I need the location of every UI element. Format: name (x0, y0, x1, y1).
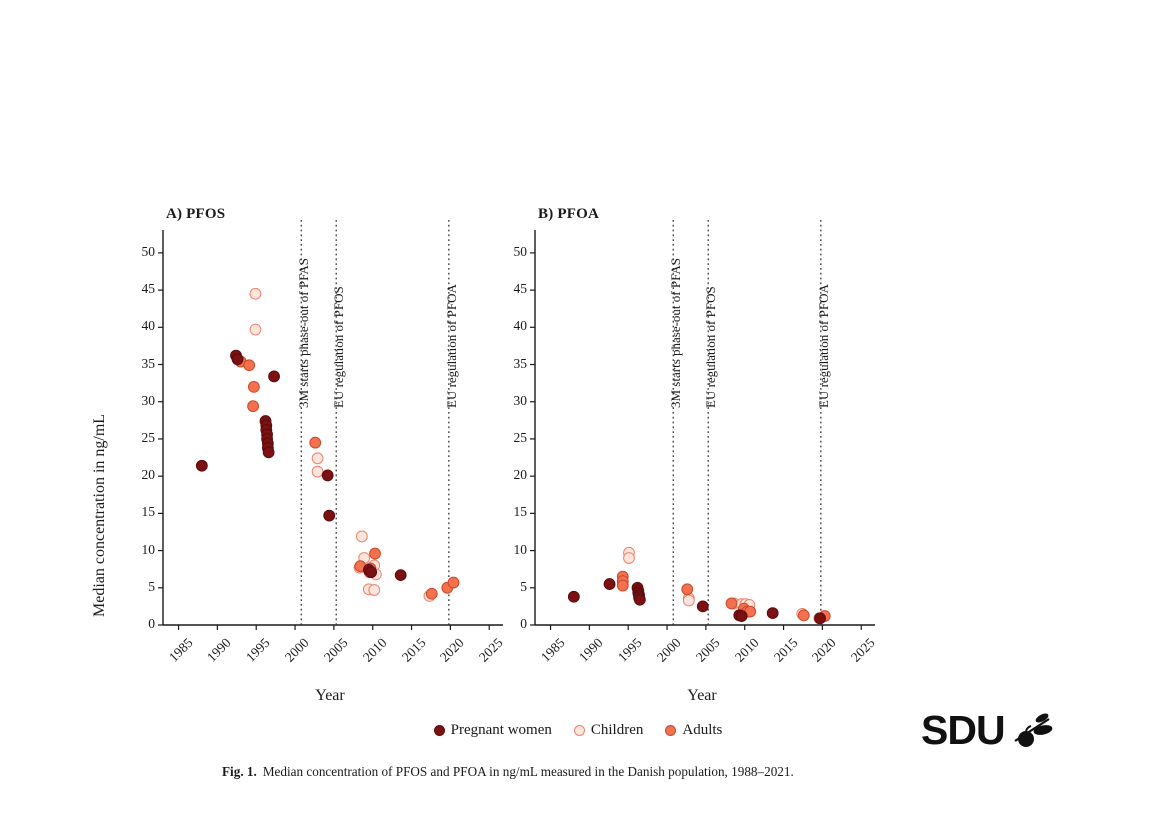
data-point-adults (682, 584, 693, 595)
legend-label: Pregnant women (451, 722, 552, 739)
panel-a-title: A) PFOS (166, 206, 225, 223)
data-point-adults (426, 588, 437, 599)
panel-b-x-axis-label: Year (535, 687, 869, 705)
panel-b-x-tick-label: 2020 (797, 635, 839, 677)
panel-a-annotation-label: EU regulation of PFOS (331, 286, 347, 408)
sdu-apple-branch-logo-icon (1009, 711, 1055, 751)
data-point-pregnant_women (395, 570, 406, 581)
data-point-adults (442, 582, 453, 593)
panel-b-y-tick-label: 45 (483, 281, 527, 297)
sdu-logo: SDU (921, 710, 1055, 751)
panel-a-y-tick-label: 40 (111, 318, 155, 334)
panel-b-x-tick-label: 1995 (603, 635, 645, 677)
data-point-pregnant_women (322, 470, 333, 481)
data-point-pregnant_women (604, 579, 615, 590)
figure-caption: Fig. 1.Median concentration of PFOS and … (222, 764, 794, 780)
data-point-adults (739, 603, 750, 614)
panel-b-x-tick-label: 2010 (720, 635, 762, 677)
data-point-pregnant_women (697, 601, 708, 612)
data-point-pregnant_women (634, 594, 645, 605)
data-point-adults (248, 381, 259, 392)
figure-caption-prefix: Fig. 1. (222, 764, 257, 779)
legend-entry-adults[interactable]: Adults (665, 722, 722, 739)
data-point-pregnant_women (366, 567, 377, 578)
panel-a-x-tick-label: 1990 (192, 635, 234, 677)
data-point-adults (244, 360, 255, 371)
data-point-pregnant_women (261, 420, 272, 431)
data-point-adults (248, 401, 259, 412)
data-point-adults (355, 561, 366, 572)
panel-b-title: B) PFOA (538, 206, 599, 223)
legend-marker-adults-icon (665, 725, 676, 736)
data-point-children (356, 531, 367, 542)
sdu-logo-text: SDU (921, 710, 1005, 751)
panel-a-y-tick-label: 30 (111, 393, 155, 409)
panel-b-x-tick-label: 1990 (564, 635, 606, 677)
data-point-adults (726, 598, 737, 609)
data-point-adults (819, 611, 830, 622)
data-point-pregnant_women (262, 438, 273, 449)
panel-b-x-tick-label: 2000 (642, 635, 684, 677)
data-point-pregnant_women (231, 350, 242, 361)
data-point-pregnant_women (232, 354, 243, 365)
data-point-children (363, 584, 374, 595)
data-point-adults (617, 571, 628, 582)
data-point-adults (364, 567, 375, 578)
data-point-adults (235, 356, 246, 367)
data-point-pregnant_women (260, 416, 271, 427)
panel-b-y-tick-label: 50 (483, 244, 527, 260)
figure-root: A) PFOS051015202530354045501985199019952… (0, 0, 1169, 827)
data-point-children (736, 599, 747, 610)
panel-a-y-axis-label: Median concentration in ng/mL (91, 414, 109, 617)
legend-marker-children-icon (574, 725, 585, 736)
panel-b-y-tick-label: 0 (483, 616, 527, 632)
panel-a-x-tick-label: 2020 (425, 635, 467, 677)
panel-b-y-tick-label: 15 (483, 504, 527, 520)
data-point-adults (745, 606, 756, 617)
data-point-pregnant_women (196, 460, 207, 471)
panel-a-y-tick-label: 35 (111, 356, 155, 372)
panel-b-x-tick-label: 1985 (525, 635, 567, 677)
data-point-pregnant_women (363, 565, 374, 576)
panel-a-x-tick-label: 2010 (348, 635, 390, 677)
data-point-children (359, 553, 370, 564)
panel-b-x-tick-label: 2005 (681, 635, 723, 677)
data-point-children (624, 547, 635, 558)
data-point-adults (448, 577, 459, 588)
panel-a-y-tick-label: 5 (111, 579, 155, 595)
data-point-pregnant_women (734, 610, 745, 621)
data-point-children (683, 593, 694, 604)
legend-entry-children[interactable]: Children (574, 722, 644, 739)
panel-b-y-tick-label: 10 (483, 542, 527, 558)
data-point-pregnant_women (263, 447, 274, 458)
data-point-children (370, 569, 381, 580)
data-point-children (250, 324, 261, 335)
data-point-pregnant_women (262, 442, 273, 453)
data-point-children (369, 560, 380, 571)
panel-a-x-axis-label: Year (163, 687, 497, 705)
data-point-pregnant_women (815, 613, 826, 624)
panel-a-x-tick-label: 2005 (309, 635, 351, 677)
data-point-children (740, 599, 751, 610)
panel-a-y-tick-label: 50 (111, 244, 155, 260)
data-point-adults (617, 576, 628, 587)
legend-label: Adults (682, 722, 722, 739)
data-point-pregnant_women (568, 591, 579, 602)
data-point-pregnant_women (262, 429, 273, 440)
panel-b-x-tick-label: 2015 (758, 635, 800, 677)
data-point-pregnant_women (767, 608, 778, 619)
panel-a-x-tick-label: 2000 (270, 635, 312, 677)
panel-b-annotation-label: 3M starts phase-out of PFAS (668, 258, 684, 408)
panel-b-y-tick-label: 20 (483, 467, 527, 483)
panel-b-y-tick-label: 25 (483, 430, 527, 446)
panel-b-annotation-label: EU regulation of PFOA (816, 284, 832, 408)
panel-b-y-tick-label: 5 (483, 579, 527, 595)
data-point-adults (742, 606, 753, 617)
data-point-pregnant_women (633, 588, 644, 599)
panel-a-y-tick-label: 15 (111, 504, 155, 520)
data-point-pregnant_women (632, 582, 643, 593)
panel-a-annotation-label: EU regulation of PFOA (444, 284, 460, 408)
panel-a-x-tick-label: 2015 (386, 635, 428, 677)
legend-marker-pregnant_women-icon (434, 725, 445, 736)
panel-a-x-tick-label: 2025 (464, 635, 506, 677)
data-point-pregnant_women (634, 590, 645, 601)
data-point-children (424, 591, 435, 602)
data-point-pregnant_women (634, 592, 645, 603)
panel-b-x-tick-label: 2025 (836, 635, 878, 677)
data-point-children (744, 600, 755, 611)
data-point-pregnant_women (261, 425, 272, 436)
data-point-children (354, 562, 365, 573)
legend-entry-pregnant_women[interactable]: Pregnant women (434, 722, 552, 739)
panel-a-y-tick-label: 45 (111, 281, 155, 297)
data-point-children (728, 598, 739, 609)
data-point-children (369, 585, 380, 596)
data-point-children (814, 613, 825, 624)
panel-a-y-tick-label: 0 (111, 616, 155, 632)
data-point-children (250, 288, 261, 299)
data-point-children (683, 595, 694, 606)
data-point-children (624, 553, 635, 564)
data-point-pregnant_women (269, 371, 280, 382)
legend-label: Children (591, 722, 644, 739)
data-point-children (797, 608, 808, 619)
data-point-children (312, 453, 323, 464)
panel-a-x-tick-label: 1985 (153, 635, 195, 677)
data-point-adults (310, 437, 321, 448)
data-point-pregnant_women (324, 510, 335, 521)
panel-b-annotation-label: EU regulation of PFOS (703, 286, 719, 408)
panel-a-annotation-label: 3M starts phase-out of PFAS (296, 258, 312, 408)
panel-b-y-tick-label: 30 (483, 393, 527, 409)
data-point-children (312, 466, 323, 477)
panel-a-y-tick-label: 10 (111, 542, 155, 558)
panel-a-x-tick-label: 1995 (231, 635, 273, 677)
panel-a-y-tick-label: 25 (111, 430, 155, 446)
data-point-pregnant_women (633, 585, 644, 596)
panel-b-y-tick-label: 40 (483, 318, 527, 334)
data-point-adults (365, 563, 376, 574)
data-point-adults (370, 548, 381, 559)
data-point-pregnant_women (736, 611, 747, 622)
panel-a-y-tick-label: 20 (111, 467, 155, 483)
figure-caption-text: Median concentration of PFOS and PFOA in… (263, 764, 794, 779)
data-point-adults (617, 580, 628, 591)
panel-b-y-tick-label: 35 (483, 356, 527, 372)
data-point-pregnant_women (262, 434, 273, 445)
data-point-adults (798, 610, 809, 621)
